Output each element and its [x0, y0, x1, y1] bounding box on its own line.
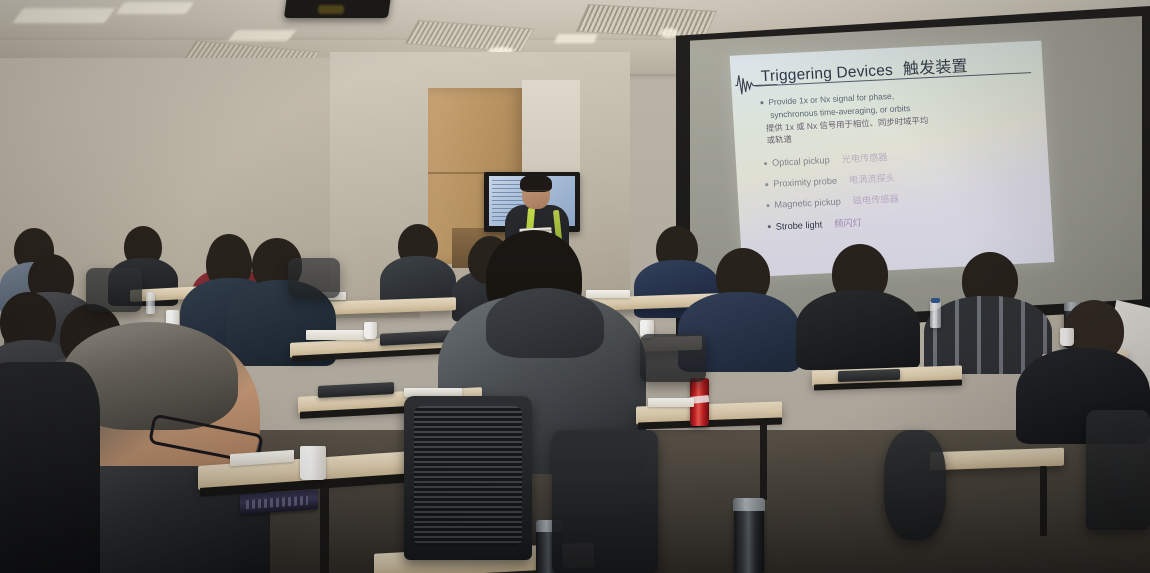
desk-leg: [760, 424, 767, 500]
slide-body: Provide 1x or Nx signal for phase, synch…: [760, 83, 1044, 232]
laptop: [838, 369, 900, 382]
office-chair: [1086, 410, 1150, 530]
office-chair: [552, 430, 658, 573]
projector-lens-icon: [318, 5, 344, 14]
ceiling-light: [227, 30, 296, 41]
bullet-dot-icon: [764, 162, 767, 165]
thermos-cap: [733, 498, 765, 511]
paper-cup: [1060, 328, 1074, 346]
slide-lead-bullet: Provide 1x or Nx signal for phase, synch…: [760, 83, 1039, 147]
office-chair: [640, 334, 706, 382]
slide-title: Triggering Devices触发装置: [760, 49, 1037, 86]
office-chair: [86, 268, 142, 312]
desk-leg: [320, 488, 329, 573]
slide-bullet: Proximity probe电涡流探头: [765, 167, 1041, 190]
slide-bullet: Optical pickup光电传感器: [764, 146, 1040, 169]
bullet-dot-icon: [765, 183, 768, 186]
office-chair: [288, 258, 340, 298]
paper-stack: [306, 330, 368, 340]
bullet-dot-icon: [768, 225, 771, 228]
thermos-flask: [734, 506, 764, 573]
ceiling-light: [554, 34, 597, 43]
water-bottle: [146, 292, 155, 314]
presentation-slide: Triggering Devices触发装置 Provide 1x or Nx …: [730, 41, 1055, 278]
paper-stack: [648, 398, 694, 407]
attendee-body: [796, 290, 920, 370]
paper-cup: [300, 446, 326, 480]
slide-bullet: Magnetic pickup磁电传感器: [766, 188, 1042, 211]
glasses-icon: [523, 190, 548, 196]
paper-stack: [586, 290, 630, 298]
water-bottle: [930, 300, 941, 328]
ceiling-light: [660, 28, 678, 38]
bottle-cap: [931, 298, 940, 303]
bullet-dot-icon: [760, 101, 763, 104]
desk-leg: [1040, 466, 1047, 536]
bullet-dot-icon: [766, 204, 769, 207]
office-chair: [884, 430, 946, 540]
attendee-hood: [486, 288, 604, 358]
attendee-body: [0, 362, 100, 573]
ceiling-light: [13, 8, 116, 23]
slide-bullet: Strobe light频闪灯: [768, 209, 1044, 232]
classroom-photo: Triggering Devices触发装置 Provide 1x or Nx …: [0, 0, 1150, 573]
ceiling-light: [116, 2, 195, 14]
chair-mesh-back: [414, 406, 522, 546]
paper-cup: [364, 322, 377, 339]
